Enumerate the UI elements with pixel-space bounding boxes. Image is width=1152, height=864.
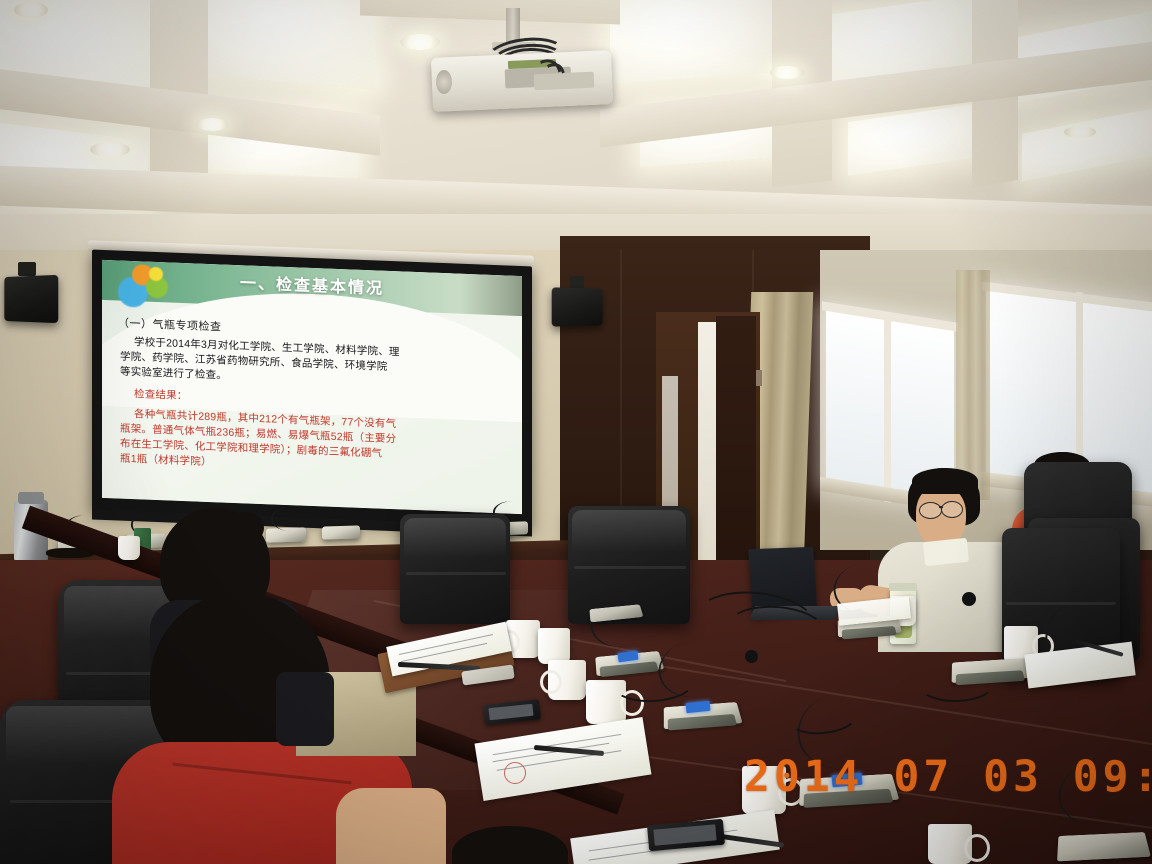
attendee-dark-bun [228, 512, 264, 544]
man-presenter-glasses [919, 502, 942, 519]
mug-handle [540, 670, 562, 694]
presentation-slide: 一、检查基本情况 （一）气瓶专项检查 学校于2014年3月对化工学院、生工学院、… [102, 260, 522, 514]
recessed-downlight [1064, 126, 1096, 138]
conference-mic-unit[interactable] [1057, 832, 1151, 861]
mug-handle [964, 834, 990, 862]
window-mullion [884, 311, 891, 502]
recessed-downlight [14, 2, 48, 18]
thermos-cap [18, 492, 44, 504]
chair-highlight [404, 518, 506, 558]
coffee-mug [118, 536, 140, 560]
man-presenter-hair-front [912, 468, 978, 494]
coffee-mug [538, 628, 570, 664]
recessed-downlight [770, 66, 804, 79]
man-presenter-glasses-bridge [939, 506, 943, 508]
recessed-downlight [400, 34, 440, 50]
mic-capsule [962, 592, 976, 606]
recessed-downlight [196, 118, 228, 131]
speaker-bracket [570, 276, 584, 288]
man-presenter-collar [923, 538, 969, 566]
door[interactable] [716, 316, 756, 582]
attendee-red-arm [336, 788, 446, 864]
chair-seam [1006, 602, 1116, 605]
man-presenter-glasses [941, 501, 963, 518]
chair-highlight [572, 510, 686, 552]
left-wall-speaker [4, 275, 58, 323]
projection-screen-frame: 一、检查基本情况 （一）气瓶专项检查 学校于2014年3月对化工学院、生工学院、… [92, 250, 532, 529]
projector-lens [436, 70, 452, 94]
camera-timestamp: 2014 07 03 09:40 [744, 752, 1152, 802]
speaker-bracket [18, 262, 36, 276]
slide-result-label: 检查结果： [134, 387, 188, 404]
ceiling-light-panel [610, 0, 775, 84]
ceiling-light-panel [200, 0, 375, 90]
red-seal-stamp [504, 762, 526, 784]
conference-room-photo: 一、检查基本情况 （一）气瓶专项检查 学校于2014年3月对化工学院、生工学院、… [0, 0, 1152, 864]
chair-seam [406, 572, 506, 575]
projector-vent [462, 65, 497, 83]
door-hinge [756, 370, 762, 386]
right-wall-speaker [552, 287, 603, 326]
attendee-dark-bag [276, 672, 334, 746]
curtain [956, 270, 990, 500]
chair-seam [574, 566, 686, 569]
recessed-downlight [90, 142, 130, 157]
conference-mic-unit[interactable] [322, 525, 360, 539]
